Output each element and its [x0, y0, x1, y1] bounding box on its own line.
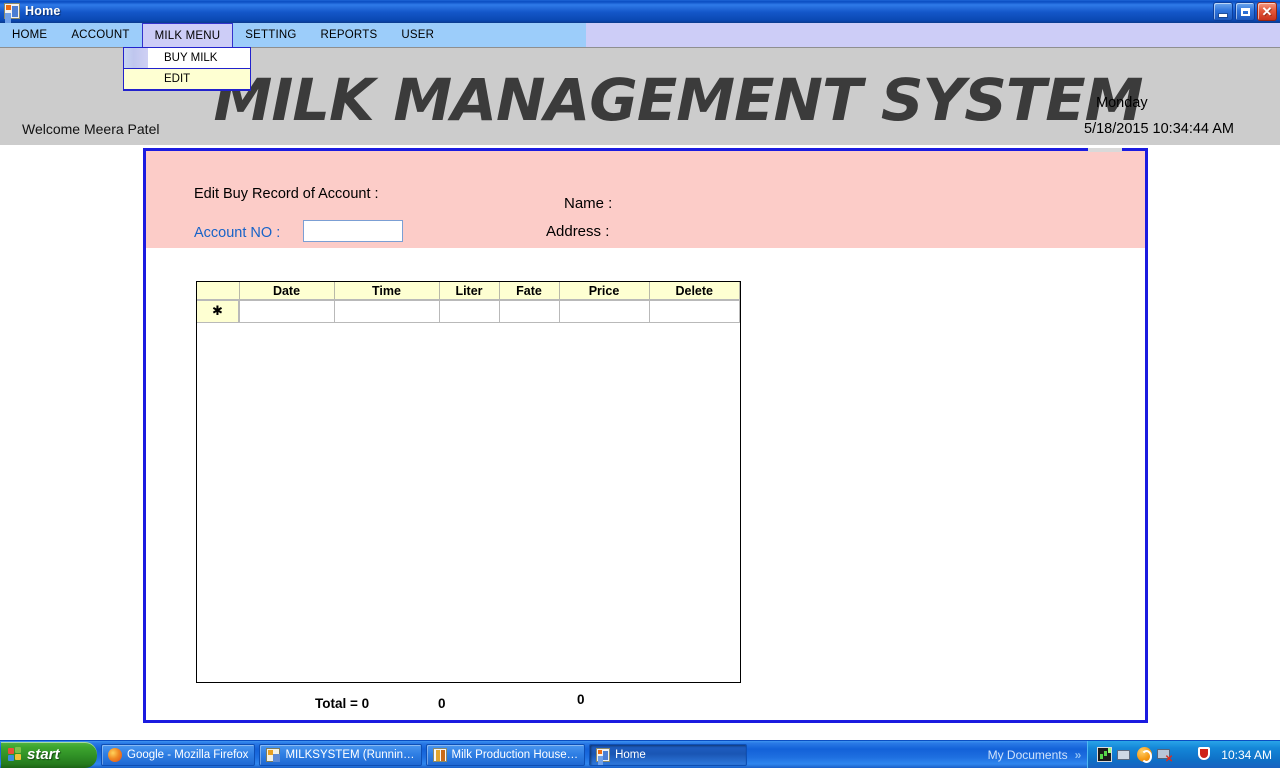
restore-icon	[1241, 8, 1250, 16]
menu-item-user[interactable]: USER	[389, 23, 446, 47]
cell-fate[interactable]	[499, 300, 559, 322]
app-icon	[596, 748, 610, 762]
window-title: Home	[25, 4, 61, 18]
taskbar-button-milksystem-label: MILKSYSTEM (Runnin…	[285, 749, 414, 761]
quicklaunch-label: My Documents	[988, 748, 1068, 762]
grid-header-row: Date Time Liter Fate Price Delete	[197, 282, 740, 300]
taskbar-button-milk-production-house-label: Milk Production House…	[452, 749, 579, 761]
quicklaunch-my-documents[interactable]: My Documents »	[988, 748, 1088, 762]
grid-col-liter[interactable]: Liter	[439, 282, 499, 300]
cell-price[interactable]	[559, 300, 649, 322]
menu-item-milk-menu[interactable]: MILK MENU	[142, 23, 234, 47]
grid-col-rowselector	[197, 282, 239, 300]
network-disconnected-icon[interactable]	[1157, 747, 1172, 762]
buy-records-grid[interactable]: Date Time Liter Fate Price Delete ✱	[196, 281, 741, 683]
milk-menu-dropdown: BUY MILK EDIT	[123, 47, 251, 91]
app-icon	[4, 3, 20, 19]
account-no-input[interactable]	[303, 220, 403, 242]
close-icon: ✕	[1262, 5, 1273, 18]
menu-item-reports[interactable]: REPORTS	[309, 23, 390, 47]
menu-item-account[interactable]: ACCOUNT	[59, 23, 141, 47]
dropdown-item-edit[interactable]: EDIT	[123, 68, 251, 90]
form-heading: Edit Buy Record of Account :	[194, 186, 379, 202]
close-button[interactable]: ✕	[1257, 2, 1277, 21]
visualbasic-icon	[266, 748, 280, 762]
grid-col-time[interactable]: Time	[334, 282, 439, 300]
grid-col-date[interactable]: Date	[239, 282, 334, 300]
firefox-icon	[108, 748, 122, 762]
total-label: Total = 0	[315, 696, 369, 711]
taskbar-button-home[interactable]: Home	[589, 744, 747, 766]
edit-buy-record-panel: Edit Buy Record of Account : Account NO …	[143, 148, 1148, 723]
account-no-label: Account NO :	[194, 225, 280, 241]
form-header-section: Edit Buy Record of Account : Account NO …	[146, 151, 1145, 248]
grid-table: Date Time Liter Fate Price Delete ✱	[197, 282, 740, 680]
taskbar-button-firefox-label: Google - Mozilla Firefox	[127, 749, 248, 761]
taskbar: start Google - Mozilla Firefox MILKSYSTE…	[0, 740, 1280, 768]
cell-delete[interactable]	[649, 300, 740, 322]
desktop-screen: Home ✕ HOME ACCOUNT MILK MENU SETTING RE…	[0, 0, 1280, 768]
security-shield-icon[interactable]	[1197, 747, 1212, 762]
dropdown-item-buy-milk[interactable]: BUY MILK	[124, 48, 250, 68]
word-icon	[433, 748, 447, 762]
day-label: Monday	[1096, 95, 1148, 111]
grid-empty-space	[197, 322, 740, 680]
start-button[interactable]: start	[1, 742, 97, 768]
cell-liter[interactable]	[439, 300, 499, 322]
total-value-price: 0	[577, 692, 585, 707]
row-selector-new-record[interactable]: ✱	[197, 300, 239, 322]
taskbar-button-milk-production-house[interactable]: Milk Production House…	[426, 744, 586, 766]
update-icon[interactable]	[1137, 747, 1152, 762]
grid-col-delete[interactable]: Delete	[649, 282, 740, 300]
menu-items: HOME ACCOUNT MILK MENU SETTING REPORTS U…	[0, 23, 446, 47]
name-label: Name :	[564, 195, 612, 212]
menu-bar: HOME ACCOUNT MILK MENU SETTING REPORTS U…	[0, 23, 1280, 48]
dropdown-gutter	[124, 48, 148, 68]
grid-col-price[interactable]: Price	[559, 282, 649, 300]
network-icon[interactable]	[1117, 747, 1132, 762]
cell-date[interactable]	[239, 300, 334, 322]
tray-clock[interactable]: 10:34 AM	[1217, 748, 1272, 762]
system-tray: 10:34 AM	[1087, 741, 1280, 768]
menu-item-home[interactable]: HOME	[0, 23, 59, 47]
page-title: MILK MANAGEMENT SYSTEM	[214, 66, 1081, 136]
table-row[interactable]: ✱	[197, 300, 740, 322]
taskbar-button-milksystem[interactable]: MILKSYSTEM (Runnin…	[259, 744, 421, 766]
graph-icon[interactable]	[1097, 747, 1112, 762]
start-label: start	[27, 746, 60, 763]
cell-time[interactable]	[334, 300, 439, 322]
window-controls: ✕	[1213, 2, 1277, 21]
volume-icon[interactable]	[1177, 747, 1192, 762]
panel-notch	[1088, 148, 1122, 152]
menu-item-setting[interactable]: SETTING	[233, 23, 308, 47]
restore-button[interactable]	[1235, 2, 1255, 21]
dropdown-item-edit-label: EDIT	[164, 73, 190, 85]
address-label: Address :	[546, 223, 609, 240]
welcome-text: Welcome Meera Patel	[22, 121, 159, 137]
window-titlebar: Home ✕	[0, 0, 1280, 23]
minimize-button[interactable]	[1213, 2, 1233, 21]
taskbar-button-firefox[interactable]: Google - Mozilla Firefox	[101, 744, 255, 766]
total-value-liter: 0	[438, 696, 446, 711]
dropdown-item-buy-milk-label: BUY MILK	[164, 52, 217, 64]
grid-col-fate[interactable]: Fate	[499, 282, 559, 300]
chevron-right-icon[interactable]: »	[1075, 748, 1080, 762]
minimize-icon	[1219, 14, 1227, 17]
windows-flag-icon	[8, 747, 23, 762]
datetime-label: 5/18/2015 10:34:44 AM	[1084, 121, 1234, 137]
taskbar-button-home-label: Home	[615, 749, 646, 761]
